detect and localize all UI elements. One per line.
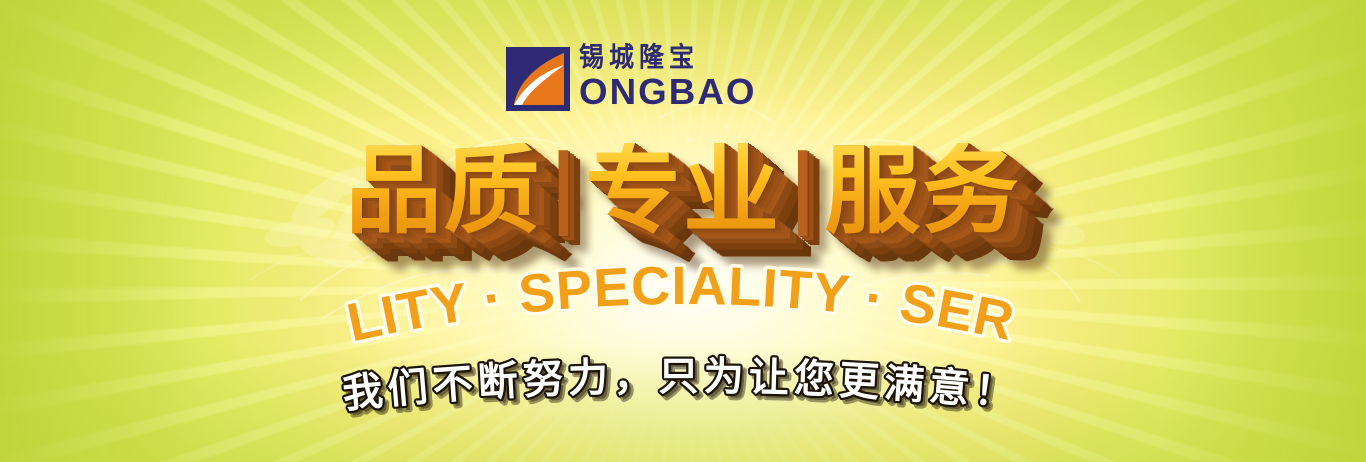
headline-3d: 品质 | 专业 | 服务 (0, 128, 1366, 254)
headline-separator-1: | (548, 144, 579, 230)
headline-word-quality: 品质 (346, 143, 542, 239)
longbao-sail-mark (506, 47, 570, 111)
logo-chinese-name: 锡城隆宝 (579, 44, 753, 71)
english-subtitle: QUALITY · SPECIALITY · SERVICE (0, 256, 1366, 348)
headline-word-service: 服务 (824, 143, 1020, 239)
logo-english-name: ONGBAO (579, 74, 756, 110)
headline-word-speciality: 专业 (585, 143, 781, 239)
company-logo: 锡城隆宝 ONGBAO (506, 44, 836, 120)
headline-separator-2: | (787, 144, 818, 230)
tagline: 我们不断努力，只为让您更满意！ 我们不断努力，只为让您更满意！ (0, 352, 1366, 416)
promotional-banner: 锡城隆宝 ONGBAO 锡城隆宝 ONGBAO 品质 | 专业 | 服务 (0, 0, 1366, 462)
tagline-textpath: 我们不断努力，只为让您更满意！ (341, 354, 1022, 418)
tagline-text: 我们不断努力，只为让您更满意！ (341, 354, 1022, 418)
